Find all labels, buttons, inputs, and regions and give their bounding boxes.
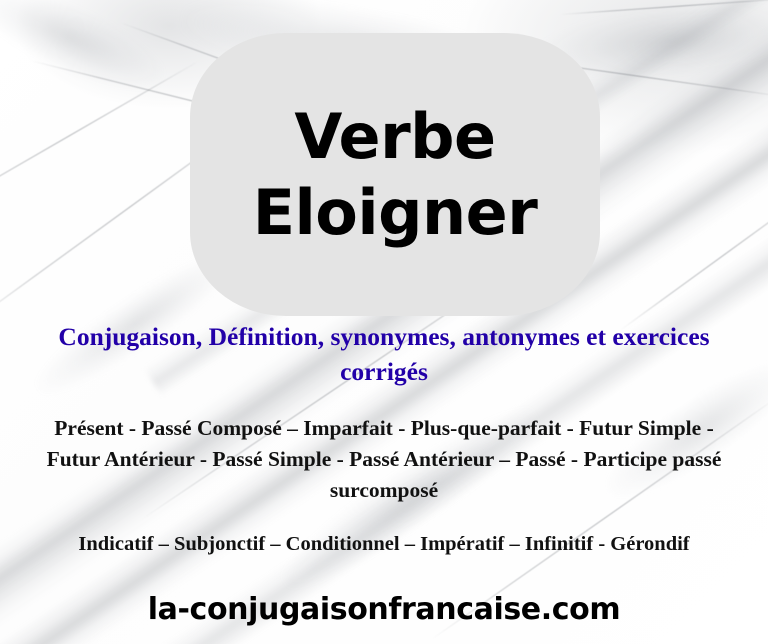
verb-conjugation-poster: Verbe Eloigner Conjugaison, Définition, … bbox=[0, 0, 768, 644]
moods-list: Indicatif – Subjonctif – Conditionnel – … bbox=[50, 530, 718, 560]
site-url-text: la-conjugaisonfrancaise.com bbox=[0, 592, 768, 627]
page-title-line-2: Eloigner bbox=[253, 177, 538, 249]
tenses-list: Présent - Passé Composé – Imparfait - Pl… bbox=[34, 413, 734, 506]
subtitle-text: Conjugaison, Définition, synonymes, anto… bbox=[44, 320, 724, 389]
title-card: Verbe Eloigner bbox=[190, 33, 600, 316]
page-title-line-1: Verbe bbox=[294, 101, 495, 173]
